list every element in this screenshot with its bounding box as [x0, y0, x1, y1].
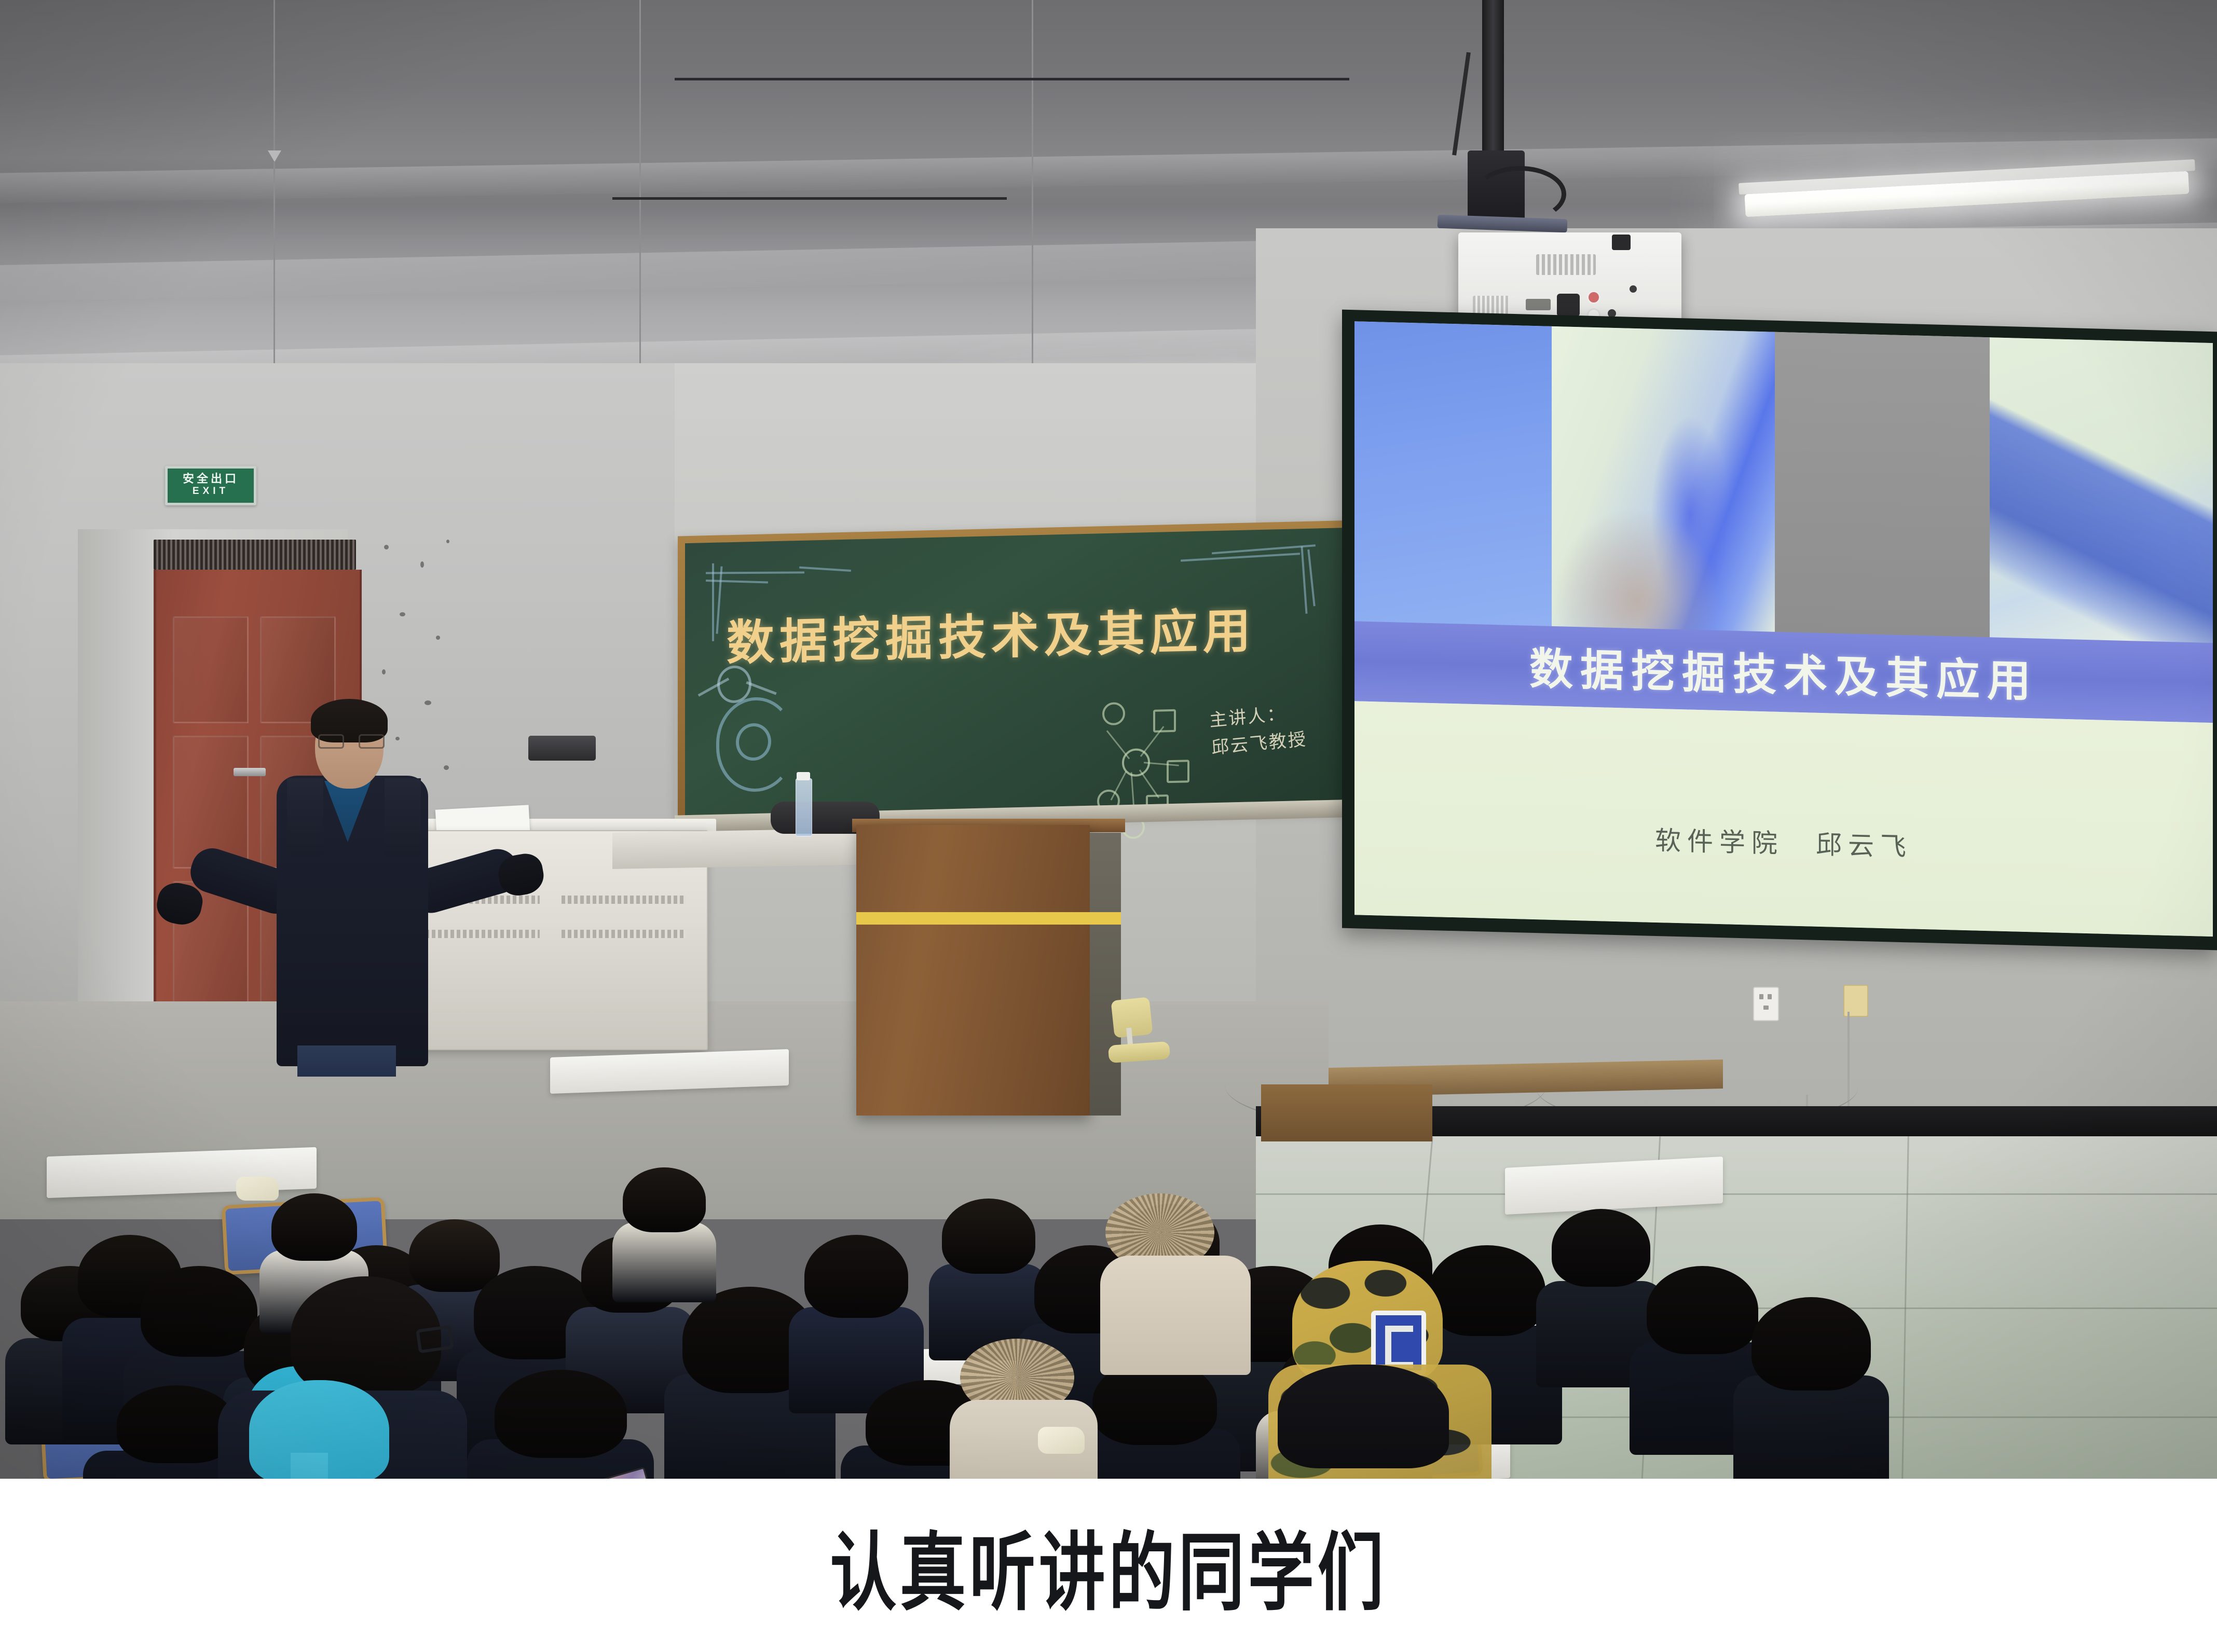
student-hair: [1751, 1297, 1871, 1391]
exit-sign-chinese-label: 安全出口: [183, 473, 239, 485]
student-hair: [271, 1193, 357, 1261]
student-jacket: [1733, 1375, 1889, 1479]
crumpled-paper: [236, 1177, 279, 1201]
water-bottle-cap: [797, 772, 810, 780]
projector-vent: [1536, 254, 1596, 275]
student-cyan-hood: [218, 1287, 477, 1479]
water-bottle: [796, 778, 812, 836]
student-hair: [495, 1370, 627, 1458]
projector-cable-loop: [1474, 166, 1566, 222]
audience-area: [0, 975, 1453, 1479]
chalk-network-node: [1102, 702, 1125, 725]
student-hair: [804, 1235, 908, 1318]
chalk-at-symbol: [716, 696, 795, 793]
student-jacket: [612, 1222, 716, 1302]
student: [612, 1167, 716, 1297]
projector-vga-port: [1526, 299, 1551, 310]
slide-author: 软件学院 邱云飞: [1354, 813, 2213, 872]
student: [1733, 1297, 1889, 1479]
projector-rca-red: [1587, 291, 1600, 304]
cyan-hood-placket: [291, 1453, 328, 1479]
slide-image-strip: [1354, 321, 2213, 652]
cabinet-vent: [562, 930, 686, 938]
caption-text: 认真听讲的同学们: [830, 1504, 1387, 1627]
blackboard-title: 数据挖掘技术及其应用: [727, 591, 1308, 673]
lecture-hall-photo: 安全出口 EXIT: [0, 0, 2217, 1479]
exit-sign-english-label: EXIT: [193, 485, 229, 498]
door-ventilation-grille: [154, 540, 356, 570]
light-hanger-wire: [273, 0, 275, 156]
glasses-icon: [416, 1325, 454, 1353]
projected-slide: 数据挖掘技术及其应用 软件学院 邱云飞: [1354, 321, 2213, 937]
cabinet-vent: [562, 896, 686, 904]
caption-bar: 认真听讲的同学们: [0, 1479, 2217, 1652]
slide-title: 数据挖掘技术及其应用: [1529, 634, 2038, 710]
chalk-network-node: [1153, 709, 1176, 733]
student-fur-hood: [1100, 1193, 1256, 1370]
lecturer-lapel: [287, 778, 323, 856]
slide-strip-gray: [1775, 332, 1990, 646]
blackboard: 数据挖掘技术及其应用 主讲人： 邱云飞教授: [685, 528, 1351, 815]
lecturer-lapel: [385, 778, 421, 856]
student-camouflage-jacket: [1256, 1266, 1500, 1479]
chalk-at-inner-ring: [736, 723, 771, 761]
projector-cable-connector: [1557, 294, 1580, 316]
glasses-icon: [318, 734, 381, 746]
blackboard-presenter: 主讲人： 邱云飞教授: [1209, 694, 1358, 762]
student: [467, 1370, 654, 1479]
slide-strip-solid-blue: [1354, 321, 1552, 635]
lectern-yellow-stripe: [856, 912, 1121, 925]
slide-strip-skyscraper: [1990, 337, 2213, 652]
photo-with-caption: 安全出口 EXIT: [0, 0, 2217, 1652]
crumpled-paper: [1038, 1427, 1085, 1454]
projection-screen: 数据挖掘技术及其应用 软件学院 邱云飞: [1342, 310, 2217, 951]
slide-strip-hands-keyboard: [1552, 326, 1775, 641]
projector-mount-pole: [1482, 0, 1504, 156]
projector-power-indicator: [1630, 285, 1637, 293]
student-hair: [623, 1167, 706, 1232]
slide-body: 软件学院 邱云飞: [1354, 701, 2213, 937]
blackboard-frame: 数据挖掘技术及其应用 主讲人： 邱云飞教授: [678, 520, 1359, 824]
student-fur-hood: [950, 1339, 1100, 1479]
overhead-projector-device: [528, 736, 596, 761]
projector-hdmi-plug: [1612, 235, 1631, 250]
exit-sign: 安全出口 EXIT: [165, 466, 256, 505]
student-black-hood: [1278, 1365, 1449, 1468]
student-jacket: [1100, 1256, 1251, 1375]
student-desk: [550, 1049, 789, 1094]
chalk-network-node: [1167, 760, 1189, 783]
power-outlet[interactable]: [1753, 987, 1779, 1021]
